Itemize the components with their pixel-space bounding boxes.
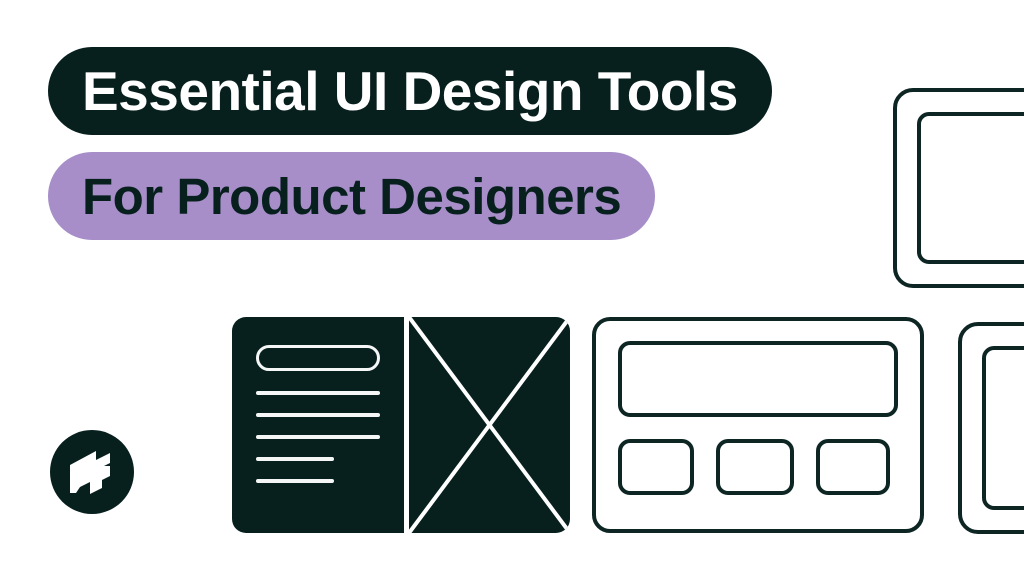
- page-title-text: Essential UI Design Tools: [82, 59, 738, 123]
- wireframe-input-field: [256, 345, 380, 371]
- page-subtitle-text: For Product Designers: [82, 167, 621, 226]
- brand-logo[interactable]: [50, 430, 134, 514]
- wireframe-tile: [716, 439, 794, 495]
- page-title: Essential UI Design Tools: [48, 47, 772, 135]
- page-subtitle: For Product Designers: [48, 152, 655, 240]
- wireframe-text-line: [256, 457, 334, 461]
- wireframe-text-line: [256, 413, 380, 417]
- nested-frame-top-right: [893, 88, 1024, 288]
- nested-frame-inner: [917, 112, 1024, 264]
- nested-frame-inner: [982, 346, 1024, 510]
- dark-card-left-panel: [232, 317, 404, 533]
- wireframe-tile: [618, 439, 694, 495]
- wireframe-tile: [816, 439, 890, 495]
- nested-frame-bottom-right: [958, 322, 1024, 534]
- image-placeholder-x: [409, 317, 570, 533]
- brand-mark-icon: [66, 449, 118, 495]
- wireframe-tile-row: [618, 439, 898, 495]
- wireframe-text-line: [256, 391, 380, 395]
- wireframe-text-line: [256, 435, 380, 439]
- dark-split-card: [232, 317, 570, 533]
- outlined-dashboard-card: [592, 317, 924, 533]
- wireframe-hero-block: [618, 341, 898, 417]
- poster-canvas: Essential UI Design Tools For Product De…: [0, 0, 1024, 576]
- wireframe-text-line: [256, 479, 334, 483]
